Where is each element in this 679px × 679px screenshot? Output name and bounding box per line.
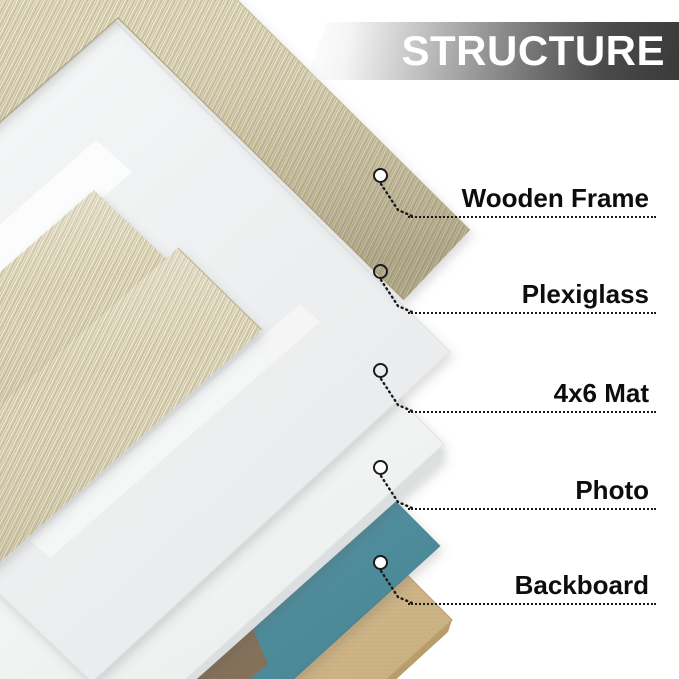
rule-mat <box>408 411 656 413</box>
marker-photo[interactable] <box>373 460 388 475</box>
callout-label-plexiglass: Plexiglass <box>522 281 649 307</box>
callout-label-mat: 4x6 Mat <box>554 380 649 406</box>
rule-plexiglass <box>408 312 656 314</box>
rule-photo <box>408 508 656 510</box>
rule-wooden-frame <box>408 216 656 218</box>
marker-plexiglass[interactable] <box>373 264 388 279</box>
structure-banner: STRUCTURE <box>305 22 679 80</box>
callout-label-backboard: Backboard <box>515 572 649 598</box>
callout-label-photo: Photo <box>575 477 649 503</box>
rule-backboard <box>408 603 656 605</box>
banner-title: STRUCTURE <box>305 22 665 80</box>
structure-diagram: STRUCTURE Wooden Frame Plexiglass 4x6 Ma… <box>0 0 679 679</box>
marker-backboard[interactable] <box>373 555 388 570</box>
marker-wooden-frame[interactable] <box>373 168 388 183</box>
marker-mat[interactable] <box>373 363 388 378</box>
callout-label-wooden-frame: Wooden Frame <box>462 185 649 211</box>
